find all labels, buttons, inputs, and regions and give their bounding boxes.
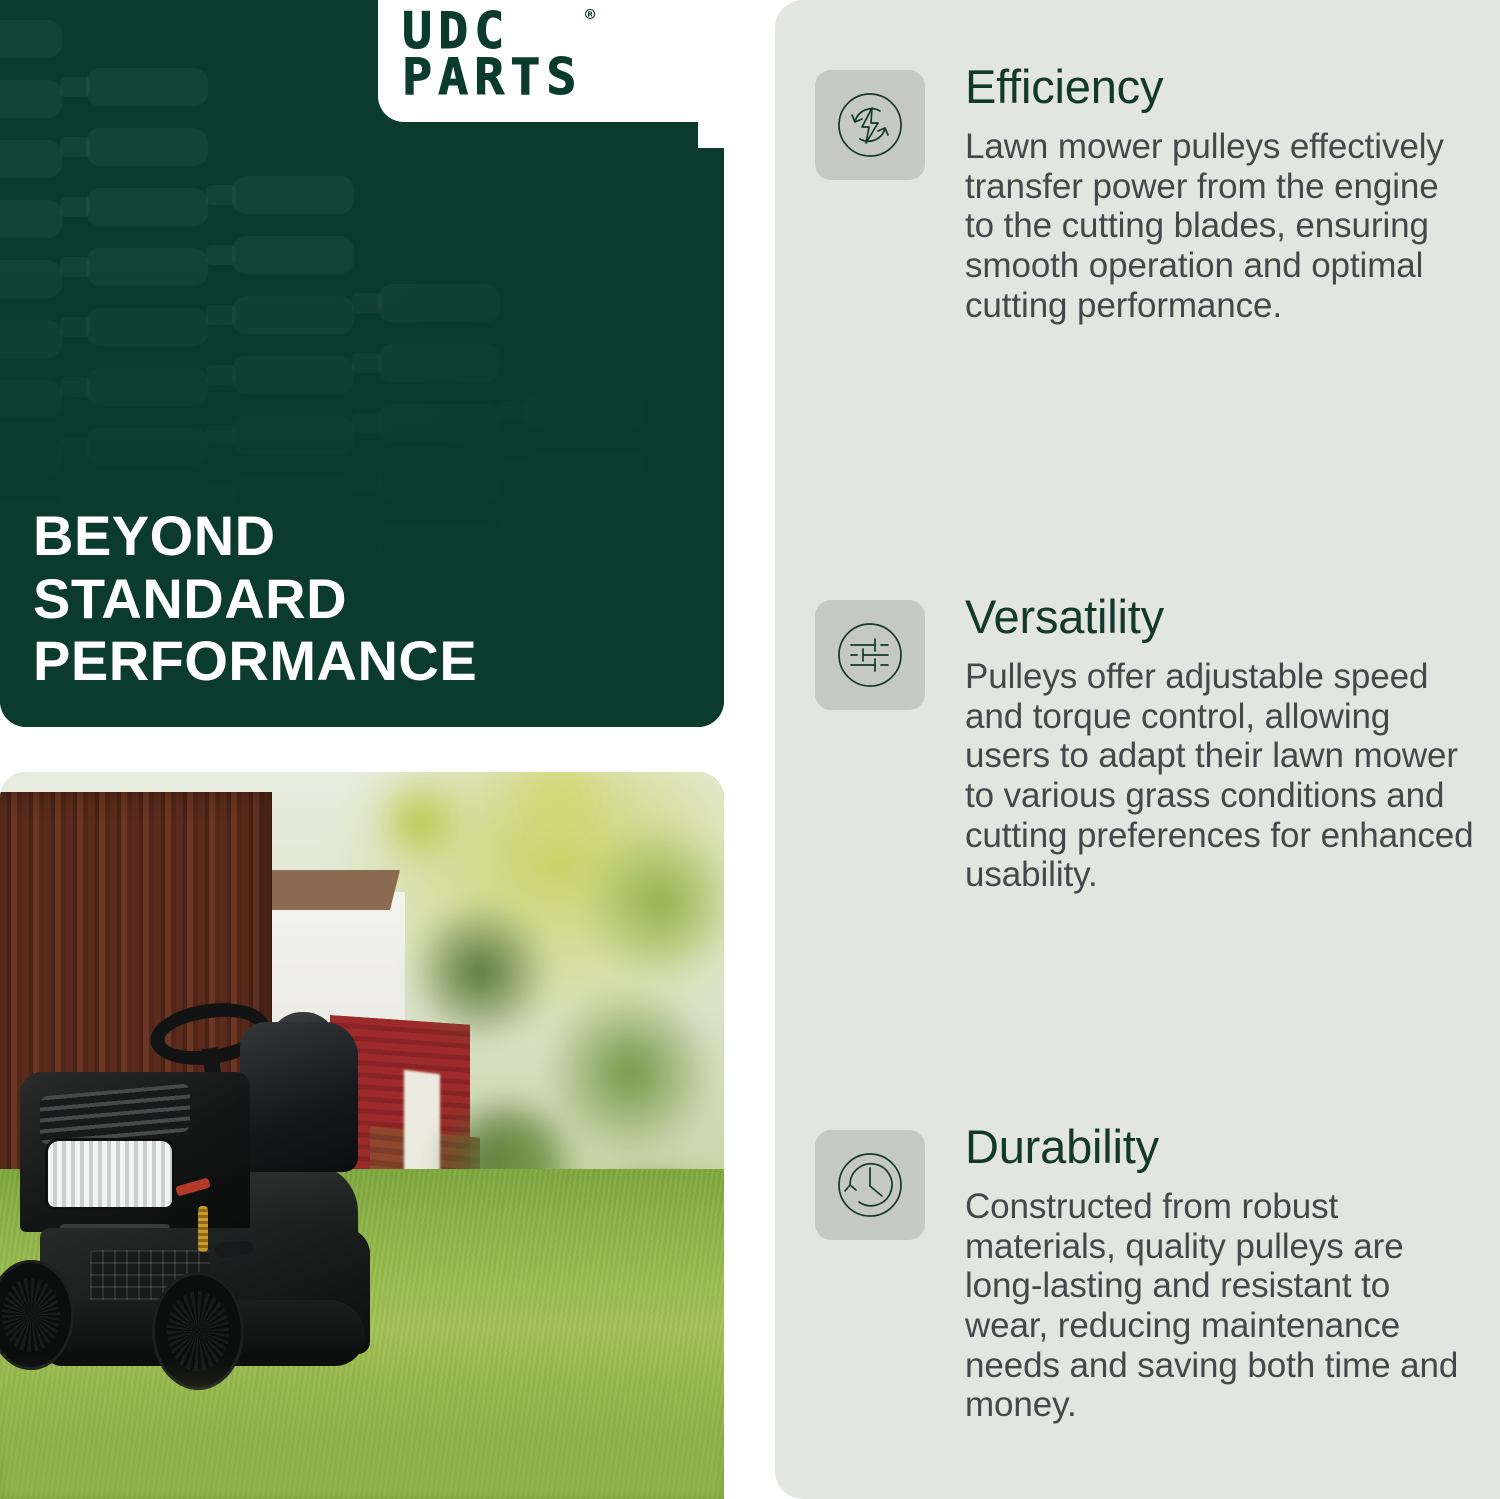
logo-line-parts: PARTS: [402, 54, 583, 100]
headline-line-1: BEYOND: [33, 505, 477, 568]
feature-text: Constructed from robust materials, quali…: [965, 1187, 1475, 1424]
pattern-capsule-notch: [60, 317, 90, 337]
pattern-capsule: [524, 572, 646, 610]
pattern-capsule: [86, 428, 208, 466]
durability-body: Durability Constructed from robust mater…: [965, 1122, 1475, 1425]
pattern-capsule: [232, 716, 354, 727]
pattern-capsule: [232, 356, 354, 394]
pattern-capsule: [0, 80, 62, 118]
efficiency-icon-tile: [815, 70, 925, 180]
pattern-capsule-notch: [60, 137, 90, 157]
pattern-capsule-notch: [352, 293, 382, 313]
pattern-capsule: [232, 236, 354, 274]
pattern-capsule-notch: [498, 701, 528, 721]
pattern-capsule-notch: [352, 473, 382, 493]
pattern-capsule-notch: [644, 629, 674, 649]
pattern-capsule-notch: [206, 185, 236, 205]
pattern-capsule-notch: [498, 401, 528, 421]
pattern-capsule: [378, 284, 500, 322]
pattern-capsule-notch: [352, 413, 382, 433]
brand-logo: UDC ® PARTS: [402, 8, 583, 100]
pattern-capsule: [232, 296, 354, 334]
pattern-capsule: [86, 248, 208, 286]
pattern-capsule-notch: [206, 425, 236, 445]
pattern-capsule: [0, 260, 62, 298]
feature-durability: Durability Constructed from robust mater…: [815, 1122, 1475, 1425]
pattern-capsule: [86, 68, 208, 106]
pattern-capsule-notch: [644, 569, 674, 589]
pattern-capsule: [670, 560, 724, 598]
versatility-icon-tile: [815, 600, 925, 710]
pattern-capsule-notch: [206, 365, 236, 385]
pattern-capsule: [524, 392, 646, 430]
pattern-capsule: [232, 416, 354, 454]
pattern-capsule-notch: [206, 305, 236, 325]
feature-efficiency: Efficiency Lawn mower pulleys effectivel…: [815, 62, 1475, 325]
pattern-capsule: [0, 380, 62, 418]
pattern-capsule: [0, 200, 62, 238]
feature-title: Versatility: [965, 592, 1475, 641]
pattern-capsule: [86, 128, 208, 166]
power-cycle-icon: [831, 86, 909, 164]
pattern-capsule: [0, 440, 62, 478]
pattern-capsule: [524, 452, 646, 490]
pattern-capsule-notch: [644, 689, 674, 709]
pattern-capsule-notch: [206, 485, 236, 505]
pattern-capsule-notch: [498, 641, 528, 661]
clock-history-icon: [831, 1146, 909, 1224]
pattern-capsule: [670, 500, 724, 538]
pattern-capsule-notch: [644, 509, 674, 529]
registered-trademark-icon: ®: [585, 8, 595, 24]
mower-knob: [215, 1241, 254, 1258]
pattern-capsule: [524, 692, 646, 727]
feature-text: Lawn mower pulleys effectively transfer …: [965, 127, 1475, 325]
headline-line-2: STANDARD: [33, 568, 477, 631]
pattern-capsule-notch: [498, 581, 528, 601]
sliders-icon: [831, 616, 909, 694]
pattern-capsule: [86, 308, 208, 346]
pattern-capsule-notch: [60, 437, 90, 457]
pattern-capsule-notch: [498, 461, 528, 481]
pattern-capsule: [86, 368, 208, 406]
pattern-capsule: [670, 620, 724, 658]
pattern-capsule-notch: [60, 197, 90, 217]
versatility-body: Versatility Pulleys offer adjustable spe…: [965, 592, 1475, 895]
pattern-capsule-notch: [352, 353, 382, 373]
features-panel: Efficiency Lawn mower pulleys effectivel…: [775, 0, 1500, 1499]
feature-text: Pulleys offer adjustable speed and torqu…: [965, 657, 1475, 894]
headline-line-3: PERFORMANCE: [33, 630, 477, 693]
feature-title: Efficiency: [965, 62, 1475, 111]
feature-title: Durability: [965, 1122, 1475, 1171]
pattern-capsule: [524, 512, 646, 550]
product-photo: [0, 772, 724, 1499]
left-column: BEYOND STANDARD PERFORMANCE UDC ® PARTS: [0, 0, 724, 1499]
efficiency-body: Efficiency Lawn mower pulleys effectivel…: [965, 62, 1475, 325]
pattern-capsule: [0, 320, 62, 358]
pattern-capsule-notch: [498, 521, 528, 541]
pattern-capsule-notch: [60, 77, 90, 97]
infographic-page: BEYOND STANDARD PERFORMANCE UDC ® PARTS: [0, 0, 1500, 1499]
pattern-capsule-notch: [352, 713, 382, 727]
pattern-capsule-notch: [60, 257, 90, 277]
durability-icon-tile: [815, 1130, 925, 1240]
pattern-capsule-notch: [60, 377, 90, 397]
pattern-capsule: [378, 704, 500, 727]
pattern-capsule-notch: [206, 245, 236, 265]
pattern-capsule: [0, 140, 62, 178]
page-headline: BEYOND STANDARD PERFORMANCE: [33, 505, 477, 693]
pattern-capsule: [670, 680, 724, 718]
pattern-capsule: [378, 464, 500, 502]
pattern-capsule: [86, 188, 208, 226]
photo-bottom-blur: [0, 1439, 724, 1499]
pattern-capsule: [0, 20, 62, 58]
mower-spring: [198, 1206, 208, 1252]
pattern-capsule: [524, 632, 646, 670]
mower-headlight: [45, 1138, 175, 1210]
feature-versatility: Versatility Pulleys offer adjustable spe…: [815, 592, 1475, 895]
mower-seat: [240, 1022, 358, 1172]
pattern-capsule: [232, 176, 354, 214]
pattern-capsule: [378, 404, 500, 442]
pattern-capsule-notch: [206, 725, 236, 727]
pattern-capsule: [378, 344, 500, 382]
